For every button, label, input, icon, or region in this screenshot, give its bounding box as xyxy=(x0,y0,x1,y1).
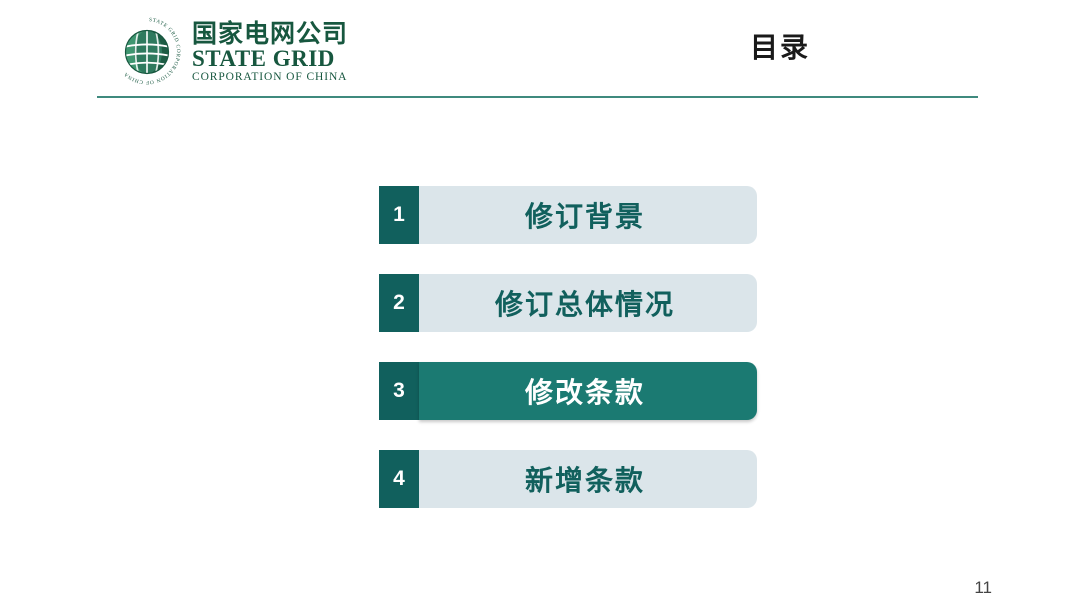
logo-company-cn: 国家电网公司 xyxy=(192,20,348,47)
toc-item-bar[interactable]: 新增条款 xyxy=(419,450,757,508)
slide-header: STATE GRID CORPORATION OF CHINA xyxy=(0,0,1080,98)
toc-item-bar[interactable]: 修订背景 xyxy=(419,186,757,244)
toc-item-label: 新增条款 xyxy=(525,459,645,499)
header-divider xyxy=(97,96,978,98)
table-of-contents: 1 修订背景 2 修订总体情况 3 修改条款 4 新增条款 xyxy=(379,186,757,508)
toc-item-bar[interactable]: 修订总体情况 xyxy=(419,274,757,332)
state-grid-globe-emblem: STATE GRID CORPORATION OF CHINA xyxy=(110,14,184,88)
toc-item-label: 修订背景 xyxy=(525,195,645,235)
toc-item-2[interactable]: 2 修订总体情况 xyxy=(379,274,757,332)
toc-item-3[interactable]: 3 修改条款 xyxy=(379,362,757,420)
logo-wordmark: 国家电网公司 STATE GRID CORPORATION OF CHINA xyxy=(192,18,348,85)
page-title: 目录 xyxy=(750,26,810,66)
toc-item-label: 修改条款 xyxy=(525,371,645,411)
page-number: 11 xyxy=(974,578,992,598)
logo-company-en-secondary: CORPORATION OF CHINA xyxy=(192,71,348,85)
toc-item-1[interactable]: 1 修订背景 xyxy=(379,186,757,244)
toc-item-number: 2 xyxy=(379,274,419,332)
toc-item-4[interactable]: 4 新增条款 xyxy=(379,450,757,508)
state-grid-logo: STATE GRID CORPORATION OF CHINA xyxy=(110,14,348,88)
toc-item-label: 修订总体情况 xyxy=(495,283,675,323)
toc-item-bar[interactable]: 修改条款 xyxy=(419,362,757,420)
toc-item-number: 1 xyxy=(379,186,419,244)
toc-item-number: 3 xyxy=(379,362,419,420)
logo-company-en-primary: STATE GRID xyxy=(192,47,348,71)
toc-item-number: 4 xyxy=(379,450,419,508)
